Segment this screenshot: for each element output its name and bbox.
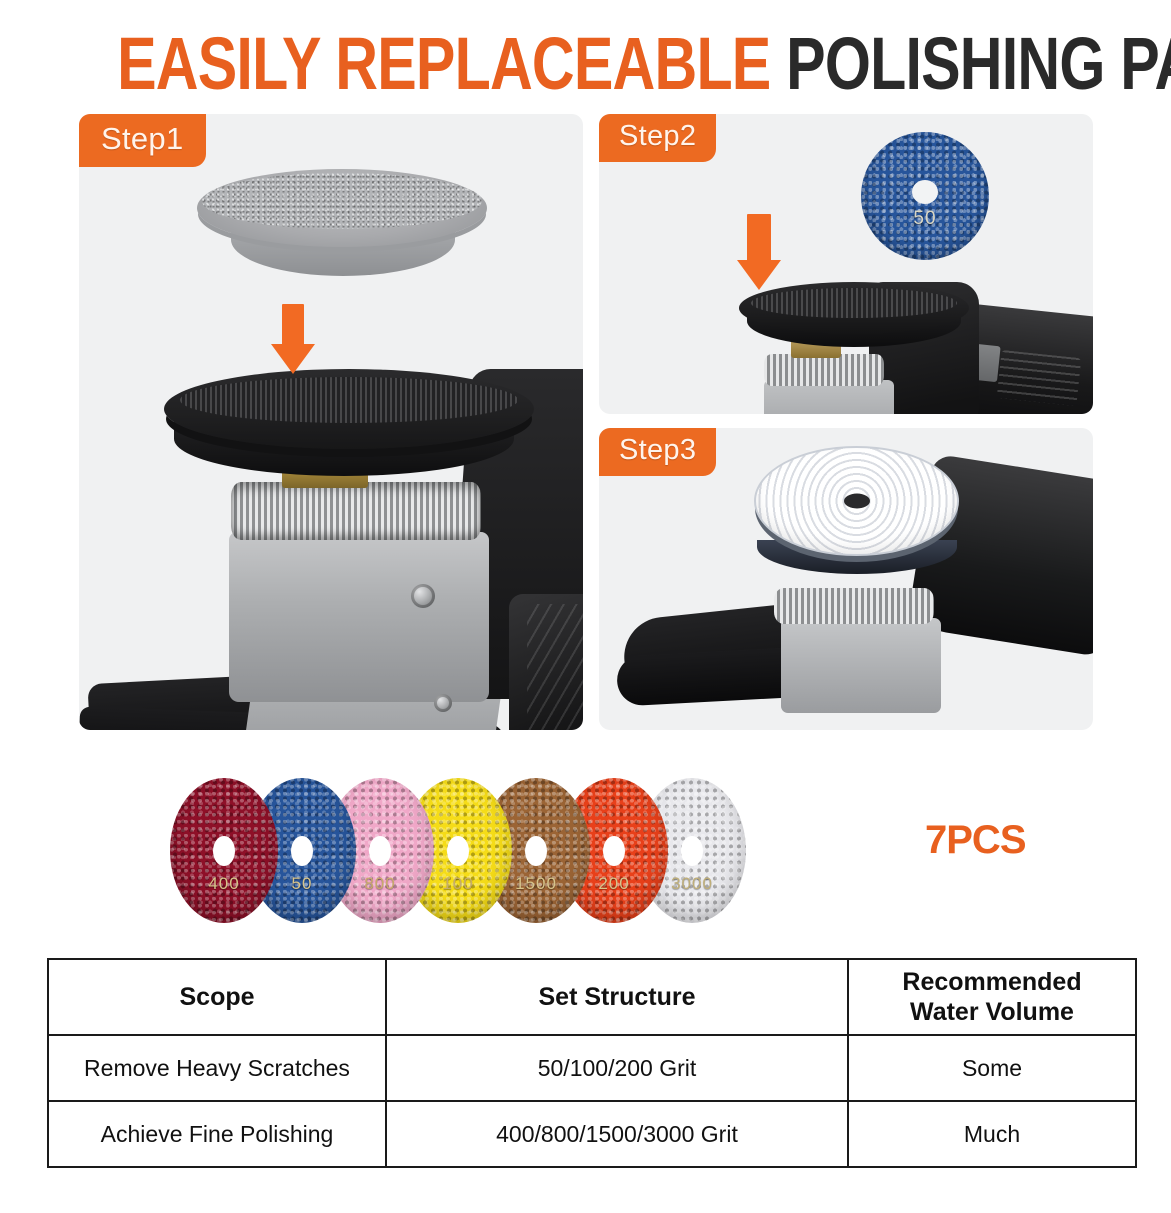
pad-grit-label: 100: [442, 874, 473, 894]
pad-grit-label: 200: [598, 874, 629, 894]
pad-grit-label: 3000: [671, 874, 713, 894]
machine-gear-ring: [774, 588, 934, 624]
machine-grip-texture: [527, 604, 583, 730]
machine-gear-ring: [231, 482, 481, 540]
machine-vents: [997, 350, 1082, 406]
pad-center-hole: [844, 494, 870, 509]
pad-center-hole: [681, 836, 703, 866]
pad-item: 400: [170, 778, 278, 923]
pieces-count-label: 7PCS: [925, 818, 1026, 863]
pad-center-hole: [447, 836, 469, 866]
pad-grit-label: 50: [913, 208, 936, 230]
header-water-volume-line1: Recommended: [902, 968, 1081, 996]
pad-grit-label: 400: [208, 874, 239, 894]
pad-center-hole: [369, 836, 391, 866]
pad-center-hole: [603, 836, 625, 866]
step3-badge: Step3: [599, 428, 716, 476]
infographic-page: EASILY REPLACEABLE POLISHING PADS Step1: [0, 0, 1171, 1213]
step1-illustration: [79, 114, 583, 730]
pad-center-hole: [912, 180, 938, 204]
pad-center-hole: [525, 836, 547, 866]
machine-backing-plate: [164, 369, 534, 449]
velcro-surface: [180, 377, 518, 423]
table-header-row: Scope Set Structure Recommended Water Vo…: [48, 959, 1136, 1035]
machine-gear-ring: [764, 354, 884, 386]
pad-grit-label: 800: [364, 874, 395, 894]
replacement-backing-pad: [197, 169, 487, 247]
screw-icon: [434, 694, 452, 712]
pad-center-hole: [213, 836, 235, 866]
replacement-pad-hub: [294, 262, 384, 298]
spec-table: Scope Set Structure Recommended Water Vo…: [47, 958, 1137, 1168]
table-row: Achieve Fine Polishing 400/800/1500/3000…: [48, 1101, 1136, 1167]
pad-grit-label: 50: [292, 874, 313, 894]
cell-scope: Achieve Fine Polishing: [48, 1101, 386, 1167]
header-set-structure: Set Structure: [386, 959, 848, 1035]
cell-structure: 400/800/1500/3000 Grit: [386, 1101, 848, 1167]
header-water-volume: Recommended Water Volume: [848, 959, 1136, 1035]
title-accent-text: EASILY REPLACEABLE: [117, 22, 770, 105]
pad-set-row: 400 50 800 100 1500 200 3000: [170, 778, 930, 923]
step2-panel: Step2 50: [599, 114, 1093, 414]
cell-water: Some: [848, 1035, 1136, 1101]
step3-panel: Step3: [599, 428, 1093, 730]
table-row: Remove Heavy Scratches 50/100/200 Grit S…: [48, 1035, 1136, 1101]
pad-grit-label: 1500: [515, 874, 557, 894]
down-arrow-icon: [223, 304, 363, 374]
screw-icon: [411, 584, 435, 608]
blue-polishing-pad: 50: [861, 132, 989, 260]
machine-motor-body: [781, 618, 941, 713]
step1-badge: Step1: [79, 114, 206, 167]
step2-badge: Step2: [599, 114, 716, 162]
cell-structure: 50/100/200 Grit: [386, 1035, 848, 1101]
pad-center-hole: [291, 836, 313, 866]
white-polishing-pad-mounted: [754, 446, 959, 556]
header-water-volume-line2: Water Volume: [910, 998, 1074, 1026]
title-dark-text: POLISHING PADS: [771, 22, 1171, 105]
cell-scope: Remove Heavy Scratches: [48, 1035, 386, 1101]
velcro-surface: [751, 288, 957, 318]
machine-motor-body: [229, 532, 489, 702]
page-title: EASILY REPLACEABLE POLISHING PADS: [117, 24, 1054, 104]
down-arrow-icon: [709, 214, 809, 292]
cell-water: Much: [848, 1101, 1136, 1167]
step1-panel: Step1: [79, 114, 583, 730]
header-scope: Scope: [48, 959, 386, 1035]
